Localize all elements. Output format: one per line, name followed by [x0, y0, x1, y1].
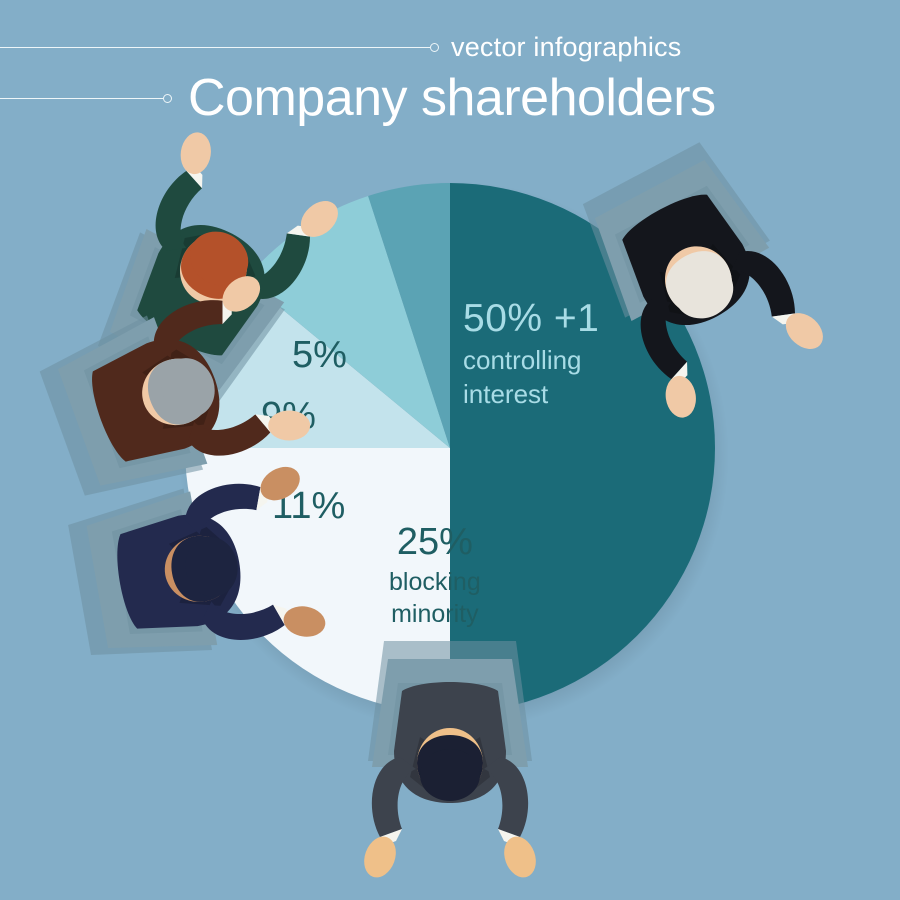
page-title: Company shareholders — [188, 72, 716, 124]
participant-hand-right — [281, 603, 328, 640]
participant-arm-left — [484, 757, 528, 837]
participant-hair-crown — [420, 749, 480, 801]
title-row: Company shareholders — [0, 72, 716, 124]
participant-arm-left — [180, 479, 266, 536]
participant-hand-right — [268, 410, 310, 440]
participant-arm-right — [372, 757, 416, 837]
title-rule — [0, 98, 163, 99]
header: vector infographics Company shareholders — [0, 0, 900, 150]
kicker-row: vector infographics — [0, 34, 681, 61]
kicker-rule-endpoint-icon — [430, 43, 439, 52]
infographic-canvas: 50% +1 controlling interest 25% blocking… — [0, 0, 900, 900]
participant-chairman[interactable] — [561, 130, 835, 428]
kicker-rule — [0, 47, 430, 48]
participant-shareholder-navy[interactable] — [64, 458, 333, 680]
participant-hand-right — [663, 374, 699, 420]
title-rule-endpoint-icon — [163, 94, 172, 103]
kicker-text: vector infographics — [451, 34, 681, 61]
participant-shareholder-dark[interactable] — [359, 641, 542, 882]
